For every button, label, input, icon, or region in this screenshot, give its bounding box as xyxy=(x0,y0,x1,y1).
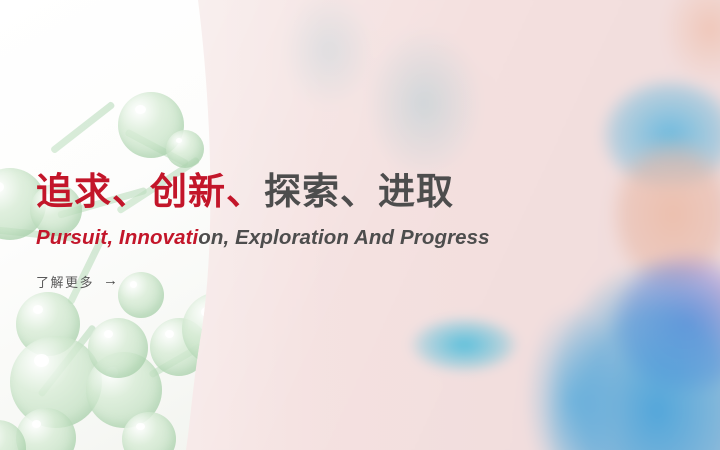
learn-more-label: 了解更多 xyxy=(36,272,94,291)
hero-content: 追求、创新、探索、进取 Pursuit, Innovation, Explora… xyxy=(36,170,490,292)
molecule-atom xyxy=(88,318,148,378)
hero-headline-gray: 探索、进取 xyxy=(264,171,454,212)
hero-subheadline-red: Pursuit, Innovati xyxy=(36,226,198,249)
hero-headline-red: 追求、创新、 xyxy=(36,171,264,212)
hero-subheadline: Pursuit, Innovation, Exploration And Pro… xyxy=(36,226,490,250)
molecule-atom xyxy=(166,130,204,168)
hero-headline: 追求、创新、探索、进取 xyxy=(36,170,490,214)
learn-more-link[interactable]: 了解更多 → xyxy=(36,272,120,291)
hero-banner: 追求、创新、探索、进取 Pursuit, Innovation, Explora… xyxy=(0,0,720,450)
arrow-right-icon: → xyxy=(103,273,120,288)
molecule-bond xyxy=(50,101,116,155)
hero-subheadline-gray: on, Exploration And Progress xyxy=(198,226,489,249)
